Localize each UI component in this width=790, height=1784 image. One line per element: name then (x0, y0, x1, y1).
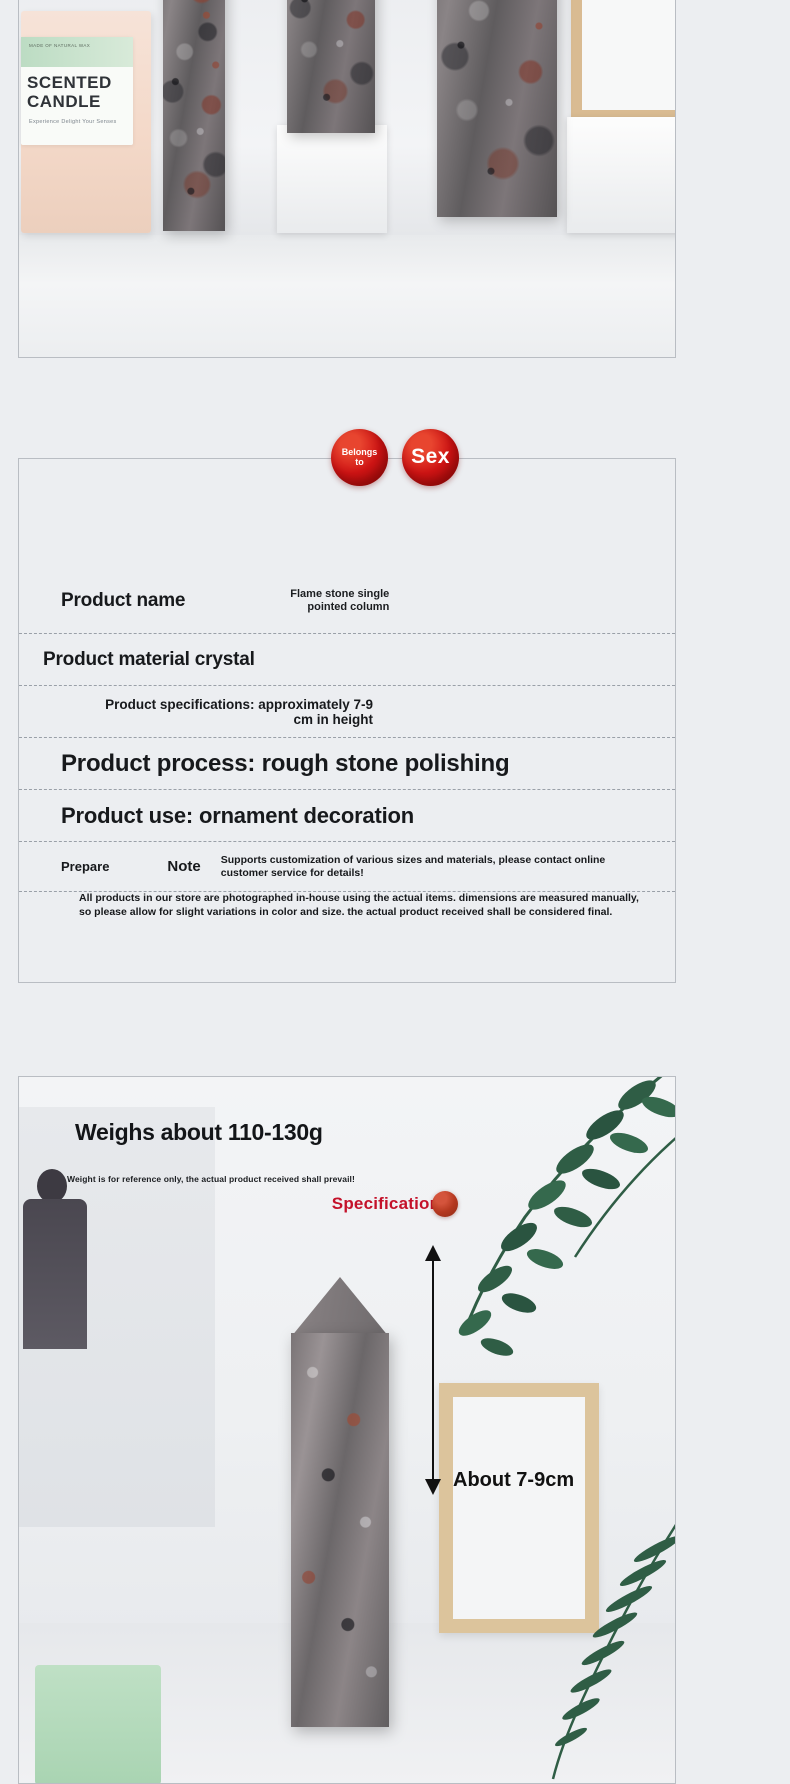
photo-tabletop (19, 235, 675, 357)
candle-subtitle: Experience Delight Your Senses (29, 119, 117, 125)
wooden-frame-prop (571, 0, 675, 121)
table-row-note: Prepare Note Supports customization of v… (19, 842, 675, 892)
table-row-product-process: Product process: rough stone polishing (19, 738, 675, 790)
specification-heading-row: Specification (0, 1188, 790, 1220)
product-material-label: Product material crystal (43, 649, 255, 671)
size-label: About 7-9cm (453, 1469, 574, 1492)
crystal-tower-left (163, 0, 225, 231)
specification-heading: Specification (332, 1194, 440, 1214)
fern-leaf-icon (539, 1507, 675, 1783)
crystal-tower-center (287, 0, 375, 133)
crystal-speckle (287, 0, 375, 133)
crystal-speckle (163, 0, 225, 231)
table-row-product-material: Product material crystal (19, 634, 675, 686)
table-row-product-name: Product name Flame stone single pointed … (19, 569, 675, 634)
candle-label: MADE OF NATURAL WAX SCENTED CANDLE Exper… (21, 37, 133, 145)
candle-title: SCENTED CANDLE (27, 73, 112, 111)
top-product-photo: MADE OF NATURAL WAX SCENTED CANDLE Exper… (18, 0, 676, 358)
weight-note: Weight is for reference only, the actual… (67, 1174, 355, 1184)
belongs-to-badge: Belongs to (331, 429, 388, 486)
measure-arrow-line (432, 1253, 434, 1493)
scented-candle-box: MADE OF NATURAL WAX SCENTED CANDLE Exper… (21, 11, 151, 233)
table-row-product-specifications: Product specifications: approximately 7-… (19, 686, 675, 738)
spec-green-box-prop (35, 1665, 161, 1783)
olive-branch-icon (415, 1077, 675, 1397)
crystal-tip (291, 1277, 389, 1337)
poster-person-body (23, 1199, 87, 1349)
pedestal-center (277, 125, 387, 233)
weight-title: Weighs about 110-130g (75, 1119, 323, 1146)
note-text: Supports customization of various sizes … (221, 854, 641, 879)
product-name-label: Product name (61, 590, 185, 612)
section-badges: Belongs to Sex (0, 428, 790, 486)
product-info-panel: Product name Flame stone single pointed … (18, 458, 676, 983)
product-info-rows: Product name Flame stone single pointed … (19, 569, 675, 892)
pedestal-right (567, 117, 675, 233)
candle-label-band (21, 37, 133, 67)
prepare-label: Prepare (61, 859, 109, 874)
product-use-label: Product use: ornament decoration (61, 803, 414, 829)
disclaimer-text: All products in our store are photograph… (79, 891, 654, 919)
product-specifications-label: Product specifications: approximately 7-… (43, 697, 373, 727)
specification-photo-panel: Weighs about 110-130g Weight is for refe… (18, 1076, 676, 1784)
specification-dot-icon (432, 1191, 458, 1217)
top-photo-scene: MADE OF NATURAL WAX SCENTED CANDLE Exper… (19, 0, 675, 357)
specification-scene: Weighs about 110-130g Weight is for refe… (19, 1077, 675, 1783)
table-row-product-use: Product use: ornament decoration (19, 790, 675, 842)
sex-badge: Sex (402, 429, 459, 486)
crystal-speckle (437, 0, 557, 217)
crystal-point-product (291, 1277, 389, 1727)
crystal-tower-right (437, 0, 557, 217)
crystal-body (291, 1333, 389, 1727)
note-label: Note (167, 858, 200, 875)
product-process-label: Product process: rough stone polishing (61, 750, 509, 778)
product-name-value: Flame stone single pointed column (239, 588, 389, 614)
candle-tagline-top: MADE OF NATURAL WAX (29, 43, 90, 48)
measure-arrow-bottom (425, 1479, 441, 1495)
